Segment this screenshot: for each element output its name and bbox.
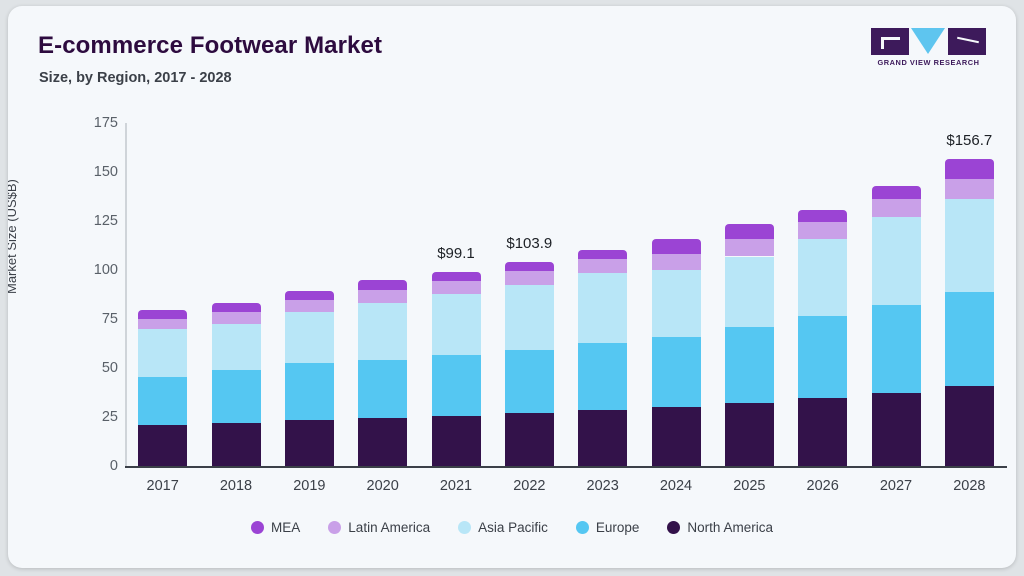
- plot-area: [126, 123, 1006, 466]
- x-axis-tick-label: 2022: [493, 478, 566, 494]
- bar-segment-asia-pacific[interactable]: [652, 270, 701, 337]
- x-axis-tick-label: 2025: [713, 478, 786, 494]
- legend-item-asia-pacific[interactable]: Asia Pacific: [458, 520, 548, 535]
- y-axis-tick-label: 25: [64, 409, 118, 425]
- x-axis-line: [125, 466, 1007, 468]
- bar-segment-europe[interactable]: [652, 337, 701, 407]
- logo-wordmark: GRAND VIEW RESEARCH: [871, 58, 986, 67]
- bar-segment-asia-pacific[interactable]: [798, 239, 847, 316]
- bar-stack[interactable]: [432, 123, 481, 466]
- bar-segment-latin-america[interactable]: [578, 259, 627, 273]
- bar-segment-asia-pacific[interactable]: [285, 312, 334, 363]
- bar-stack[interactable]: [138, 123, 187, 466]
- legend-item-latin-america[interactable]: Latin America: [328, 520, 430, 535]
- bar-segment-north-america[interactable]: [432, 416, 481, 466]
- grand-view-research-logo: GRAND VIEW RESEARCH: [871, 28, 986, 70]
- y-axis-tick-label: 175: [64, 115, 118, 131]
- bar-segment-latin-america[interactable]: [945, 179, 994, 199]
- bar-segment-latin-america[interactable]: [138, 319, 187, 330]
- y-axis-tick-label: 100: [64, 262, 118, 278]
- x-axis-tick-label: 2028: [933, 478, 1006, 494]
- bar-segment-latin-america[interactable]: [212, 312, 261, 323]
- bar-segment-europe[interactable]: [798, 316, 847, 398]
- bar-stack[interactable]: [945, 123, 994, 466]
- bar-stack[interactable]: [578, 123, 627, 466]
- y-axis-title: Market Size (US$B): [8, 179, 19, 294]
- y-axis-tick-label: 75: [64, 311, 118, 327]
- x-axis-tick-label: 2019: [273, 478, 346, 494]
- bar-segment-north-america[interactable]: [945, 386, 994, 466]
- bar-segment-europe[interactable]: [505, 350, 554, 413]
- bar-segment-mea[interactable]: [872, 186, 921, 200]
- page-subtitle: Size, by Region, 2017 - 2028: [39, 70, 232, 86]
- bar-segment-north-america[interactable]: [578, 410, 627, 466]
- bar-segment-north-america[interactable]: [872, 393, 921, 466]
- bar-segment-north-america[interactable]: [505, 413, 554, 466]
- logo-notch-c: [957, 37, 979, 44]
- logo-block-left: [871, 28, 909, 55]
- bar-segment-north-america[interactable]: [358, 418, 407, 466]
- bar-segment-mea[interactable]: [432, 272, 481, 281]
- logo-triangle-icon: [911, 28, 945, 54]
- legend-item-north-america[interactable]: North America: [667, 520, 773, 535]
- bar-segment-europe[interactable]: [432, 355, 481, 416]
- x-axis-tick-label: 2021: [419, 478, 492, 494]
- bar-segment-north-america[interactable]: [138, 425, 187, 466]
- bar-segment-mea[interactable]: [798, 210, 847, 223]
- bar-stack[interactable]: [725, 123, 774, 466]
- legend-label: Asia Pacific: [478, 520, 548, 535]
- y-axis-tick-label: 0: [64, 458, 118, 474]
- bar-segment-mea[interactable]: [652, 239, 701, 254]
- bar-stack[interactable]: [798, 123, 847, 466]
- bar-segment-asia-pacific[interactable]: [138, 329, 187, 376]
- bar-segment-europe[interactable]: [285, 363, 334, 420]
- x-axis-tick-label: 2024: [639, 478, 712, 494]
- bar-stack[interactable]: [652, 123, 701, 466]
- bar-segment-latin-america[interactable]: [725, 239, 774, 257]
- bar-stack[interactable]: [285, 123, 334, 466]
- bar-segment-mea[interactable]: [285, 291, 334, 300]
- bar-segment-north-america[interactable]: [652, 407, 701, 466]
- bar-segment-europe[interactable]: [212, 370, 261, 423]
- bar-segment-europe[interactable]: [872, 305, 921, 392]
- bar-segment-asia-pacific[interactable]: [432, 294, 481, 356]
- y-axis-tick-label: 125: [64, 213, 118, 229]
- bar-segment-europe[interactable]: [358, 360, 407, 418]
- legend-label: MEA: [271, 520, 300, 535]
- bar-segment-north-america[interactable]: [725, 403, 774, 466]
- y-axis-tick-label: 150: [64, 164, 118, 180]
- bar-segment-north-america[interactable]: [798, 398, 847, 466]
- bar-segment-mea[interactable]: [212, 303, 261, 312]
- bar-segment-asia-pacific[interactable]: [945, 199, 994, 291]
- chart-legend: MEALatin AmericaAsia PacificEuropeNorth …: [8, 520, 1016, 535]
- legend-swatch-icon: [328, 521, 341, 534]
- bar-segment-asia-pacific[interactable]: [505, 285, 554, 350]
- bar-segment-asia-pacific[interactable]: [212, 324, 261, 370]
- legend-label: Latin America: [348, 520, 430, 535]
- legend-label: North America: [687, 520, 773, 535]
- bar-segment-mea[interactable]: [578, 250, 627, 259]
- bar-segment-europe[interactable]: [138, 377, 187, 426]
- x-axis-tick-label: 2027: [859, 478, 932, 494]
- bar-segment-europe[interactable]: [578, 343, 627, 410]
- bar-segment-mea[interactable]: [945, 159, 994, 180]
- legend-swatch-icon: [458, 521, 471, 534]
- bar-stack[interactable]: [872, 123, 921, 466]
- bar-stack[interactable]: [212, 123, 261, 466]
- bar-segment-europe[interactable]: [945, 292, 994, 386]
- bar-segment-mea[interactable]: [505, 262, 554, 271]
- x-axis-tick-label: 2017: [126, 478, 199, 494]
- legend-swatch-icon: [667, 521, 680, 534]
- bar-segment-latin-america[interactable]: [358, 290, 407, 303]
- legend-swatch-icon: [576, 521, 589, 534]
- logo-block-right: [948, 28, 986, 55]
- x-axis-tick-label: 2026: [786, 478, 859, 494]
- bar-segment-asia-pacific[interactable]: [358, 303, 407, 360]
- bar-segment-latin-america[interactable]: [432, 281, 481, 294]
- legend-swatch-icon: [251, 521, 264, 534]
- page-title: E-commerce Footwear Market: [38, 32, 382, 60]
- x-axis-tick-label: 2023: [566, 478, 639, 494]
- legend-label: Europe: [596, 520, 640, 535]
- bar-value-label: $156.7: [921, 132, 1016, 149]
- bar-segment-mea[interactable]: [138, 310, 187, 319]
- bar-value-label: $103.9: [481, 235, 578, 252]
- bar-segment-north-america[interactable]: [212, 423, 261, 466]
- chart-card: E-commerce Footwear Market Size, by Regi…: [8, 6, 1016, 568]
- bar-segment-asia-pacific[interactable]: [872, 217, 921, 305]
- bar-segment-latin-america[interactable]: [652, 254, 701, 270]
- bar-segment-mea[interactable]: [725, 224, 774, 239]
- legend-item-mea[interactable]: MEA: [251, 520, 300, 535]
- bar-segment-latin-america[interactable]: [798, 222, 847, 239]
- x-axis-tick-label: 2020: [346, 478, 419, 494]
- bar-stack[interactable]: [505, 123, 554, 466]
- logo-notch-b: [881, 37, 884, 49]
- legend-item-europe[interactable]: Europe: [576, 520, 640, 535]
- bar-segment-north-america[interactable]: [285, 420, 334, 466]
- bar-segment-latin-america[interactable]: [285, 300, 334, 312]
- bar-segment-latin-america[interactable]: [505, 271, 554, 285]
- bar-segment-asia-pacific[interactable]: [578, 273, 627, 343]
- y-axis-tick-label: 50: [64, 360, 118, 376]
- bar-segment-mea[interactable]: [358, 280, 407, 290]
- bar-segment-latin-america[interactable]: [872, 199, 921, 217]
- bar-segment-asia-pacific[interactable]: [725, 257, 774, 328]
- x-axis-tick-label: 2018: [199, 478, 272, 494]
- bar-stack[interactable]: [358, 123, 407, 466]
- bar-segment-europe[interactable]: [725, 327, 774, 402]
